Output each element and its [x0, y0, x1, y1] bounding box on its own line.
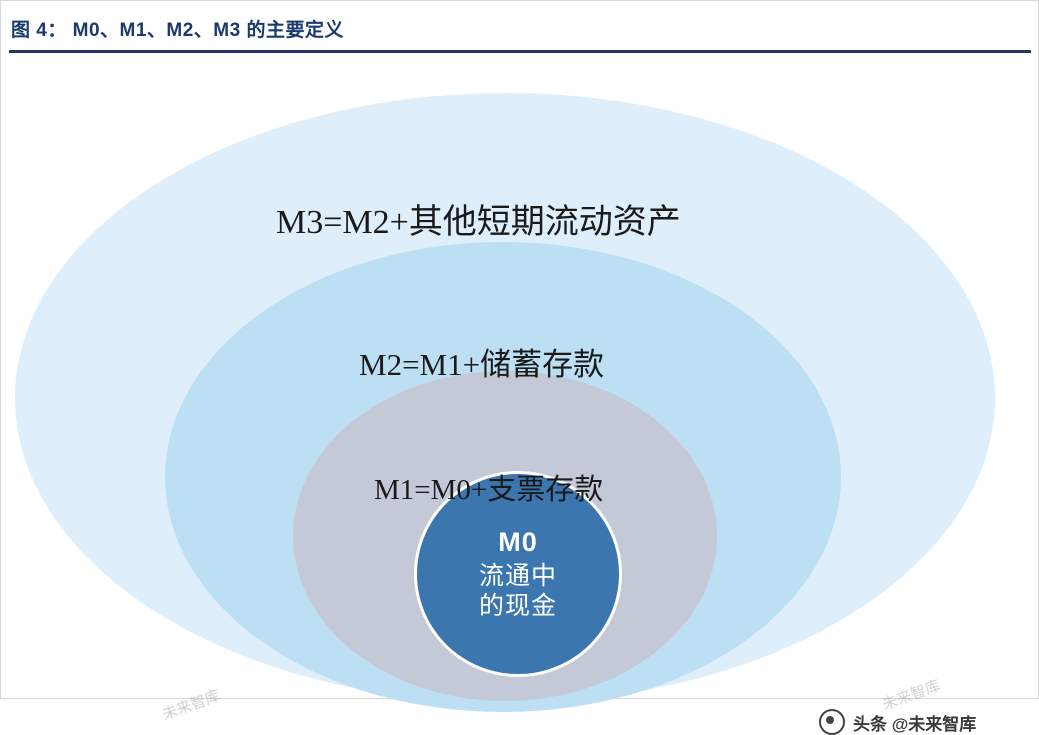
label-m3: M3=M2+其他短期流动资产 [276, 194, 681, 243]
title-divider [9, 50, 1031, 53]
brand-logo-icon [819, 709, 845, 735]
footer-brand: 头条 @未来智库 [819, 709, 976, 735]
diagram-canvas: M3=M2+其他短期流动资产 M2=M1+储蓄存款 M1=M0+支票存款 M0 … [1, 54, 1038, 698]
label-m0-desc-line1: 流通中 [479, 562, 557, 592]
label-m2: M2=M1+储蓄存款 [359, 339, 604, 384]
figure-title: 图 4： M0、M1、M2、M3 的主要定义 [11, 15, 344, 42]
label-m0-desc-line2: 的现金 [479, 592, 557, 622]
label-m0-code: M0 [498, 527, 538, 559]
footer-brand-label: 头条 @未来智库 [853, 710, 976, 735]
figure-page: 图 4： M0、M1、M2、M3 的主要定义 M3=M2+其他短期流动资产 M2… [0, 0, 1039, 699]
label-m0: M0 流通中 的现金 [417, 474, 619, 674]
watermark-left: 未来智库 [159, 684, 223, 724]
